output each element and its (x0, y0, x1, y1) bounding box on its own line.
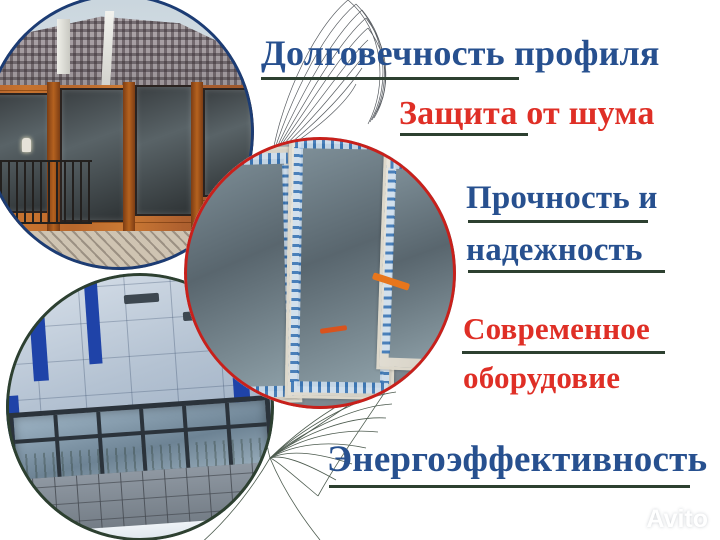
slogan-underline-strength-line2 (468, 270, 665, 273)
slogan-underline-noise-protection (400, 133, 528, 136)
slogan-strength-line1: Прочность и (466, 180, 658, 217)
slogan-energy-efficiency: Энергоэффективность (327, 438, 707, 481)
slogan-underline-energy-efficiency (329, 485, 690, 488)
avito-logo-icon (616, 508, 642, 532)
slogan-noise-protection: Защита от шума (399, 95, 655, 133)
slogan-strength-line2: надежность (466, 232, 643, 269)
advertisement-poster: Долговечность профиля Защита от шума Про… (0, 0, 720, 540)
photo-window-profiles (184, 137, 456, 409)
slogan-underline-strength-line1 (468, 220, 648, 223)
avito-watermark-text: Avito (646, 507, 708, 532)
slogan-durability: Долговечность профиля (261, 32, 660, 74)
avito-watermark: Avito (616, 507, 708, 532)
slogan-modern-equipment-line2: оборудовие (463, 360, 620, 396)
slogan-underline-durability (261, 77, 519, 80)
slogan-modern-equipment-line1: Современное (463, 311, 650, 347)
slogan-underline-modern-equipment (462, 351, 665, 354)
